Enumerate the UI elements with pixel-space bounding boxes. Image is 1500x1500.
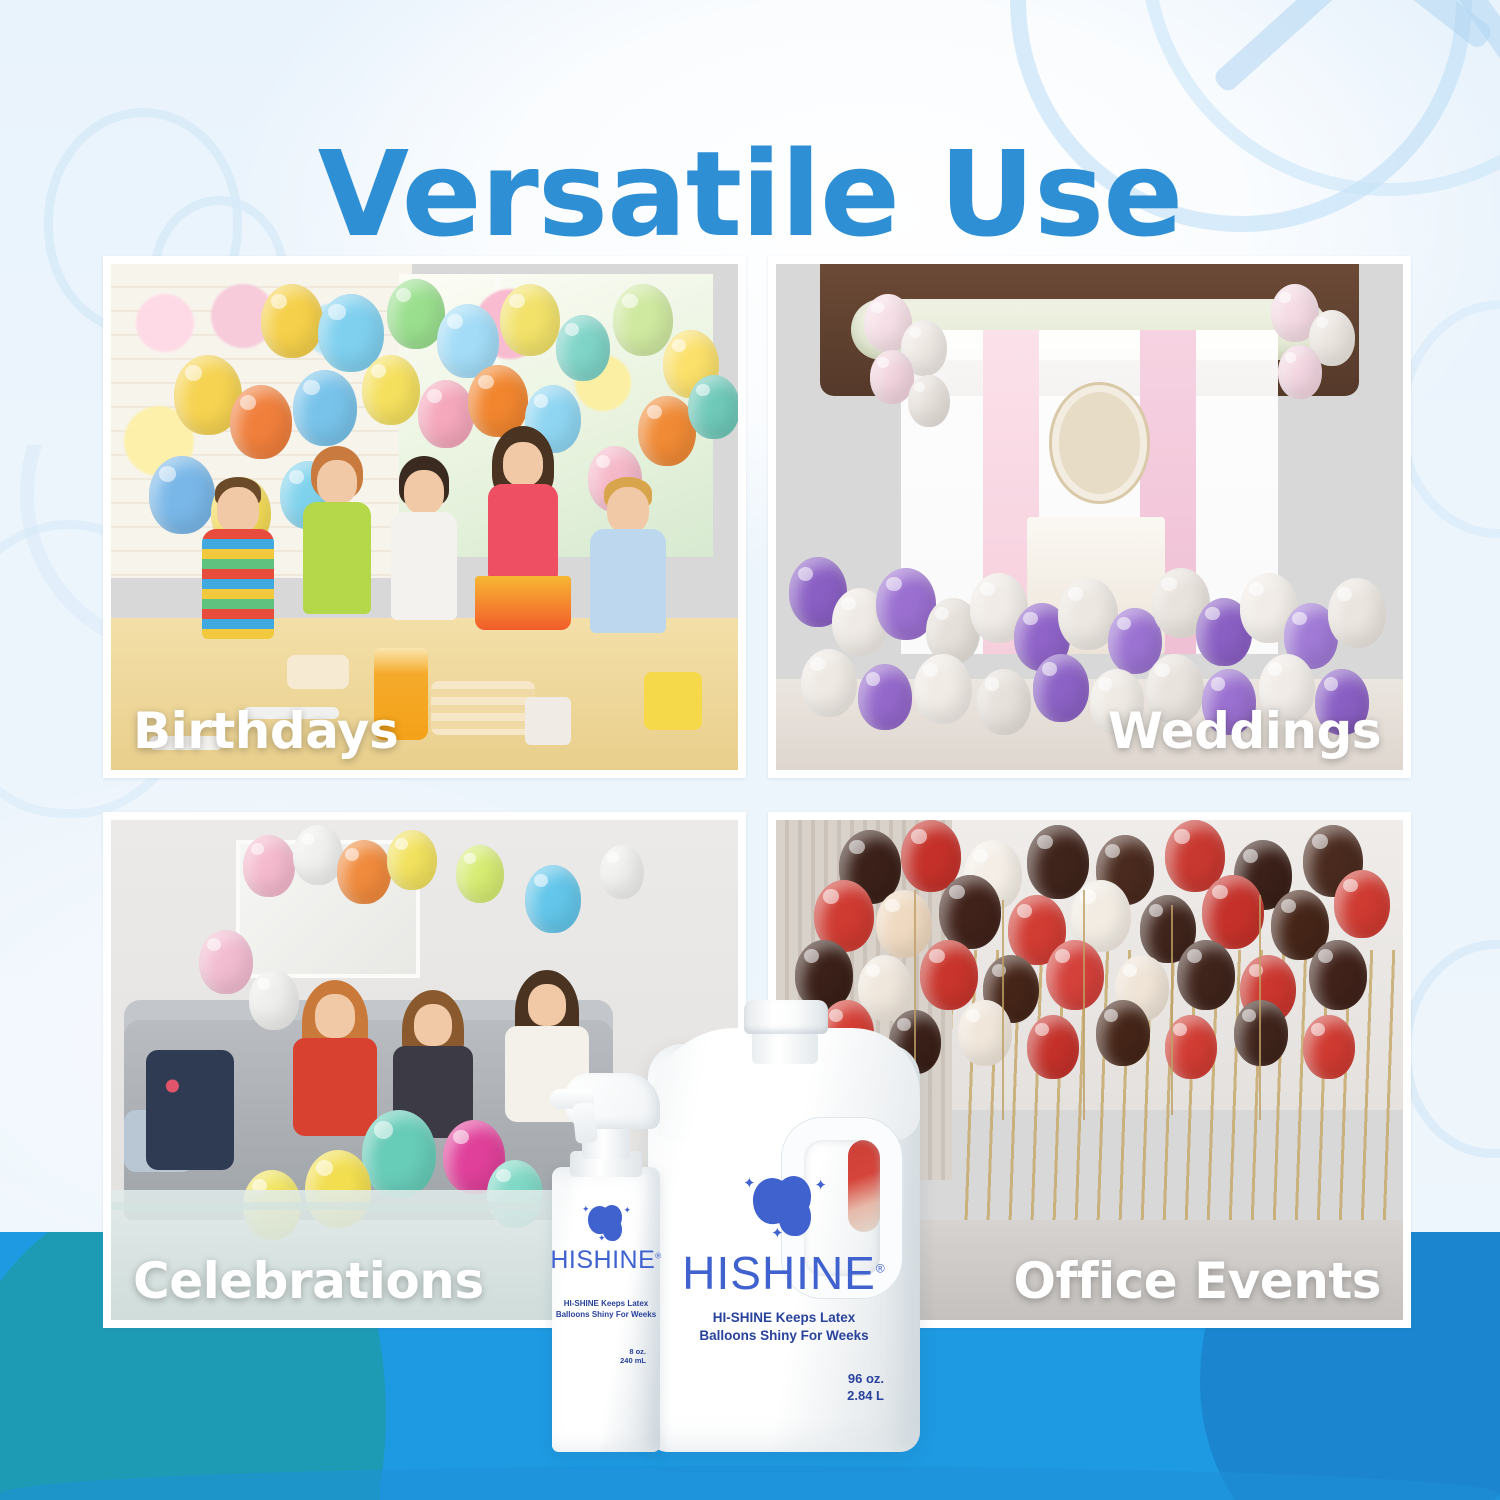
balloon-cluster-logo-icon: ✦ ✦ ✦	[583, 1205, 629, 1243]
jug-tagline: HI-SHINE Keeps Latex Balloons Shiny For …	[658, 1309, 910, 1345]
product-infographic: Versatile Use	[0, 0, 1500, 1500]
photo-caption-office-events: Office Events	[1013, 1256, 1381, 1306]
jug-label: ✦ ✦ ✦ HISHINE® HI-SHINE Keeps Latex Ball…	[658, 1176, 910, 1405]
product-gallon-jug[interactable]: ✦ ✦ ✦ HISHINE® HI-SHINE Keeps Latex Ball…	[648, 1000, 920, 1452]
photo-caption-weddings: Weddings	[1108, 706, 1381, 756]
jug-cap[interactable]	[744, 1000, 828, 1034]
spray-tagline: HI-SHINE Keeps Latex Balloons Shiny For …	[550, 1299, 662, 1321]
spray-brand-name: HISHINE®	[550, 1246, 662, 1275]
photo-card-birthdays[interactable]: Birthdays	[103, 256, 746, 778]
jug-brand-name: HISHINE®	[658, 1246, 910, 1300]
spray-lever[interactable]	[572, 1102, 598, 1144]
child-figure	[199, 477, 277, 710]
photo-weddings: Weddings	[776, 264, 1403, 770]
spray-volume: 8 oz. 240 mL	[550, 1347, 662, 1367]
photo-caption-birthdays: Birthdays	[133, 706, 398, 756]
photo-card-weddings[interactable]: Weddings	[768, 256, 1411, 778]
page-title: Versatile Use	[0, 135, 1500, 253]
photo-caption-celebrations: Celebrations	[133, 1256, 484, 1306]
spray-bottle-label: ✦ ✦ ✦ HISHINE® HI-SHINE Keeps Latex Ball…	[550, 1205, 662, 1366]
balloon-cluster-logo-icon: ✦ ✦ ✦	[745, 1176, 823, 1240]
photo-birthdays: Birthdays	[111, 264, 738, 770]
product-spray-bottle[interactable]: ✦ ✦ ✦ HISHINE® HI-SHINE Keeps Latex Ball…	[544, 1055, 668, 1452]
jug-volume: 96 oz. 2.84 L	[658, 1371, 910, 1405]
